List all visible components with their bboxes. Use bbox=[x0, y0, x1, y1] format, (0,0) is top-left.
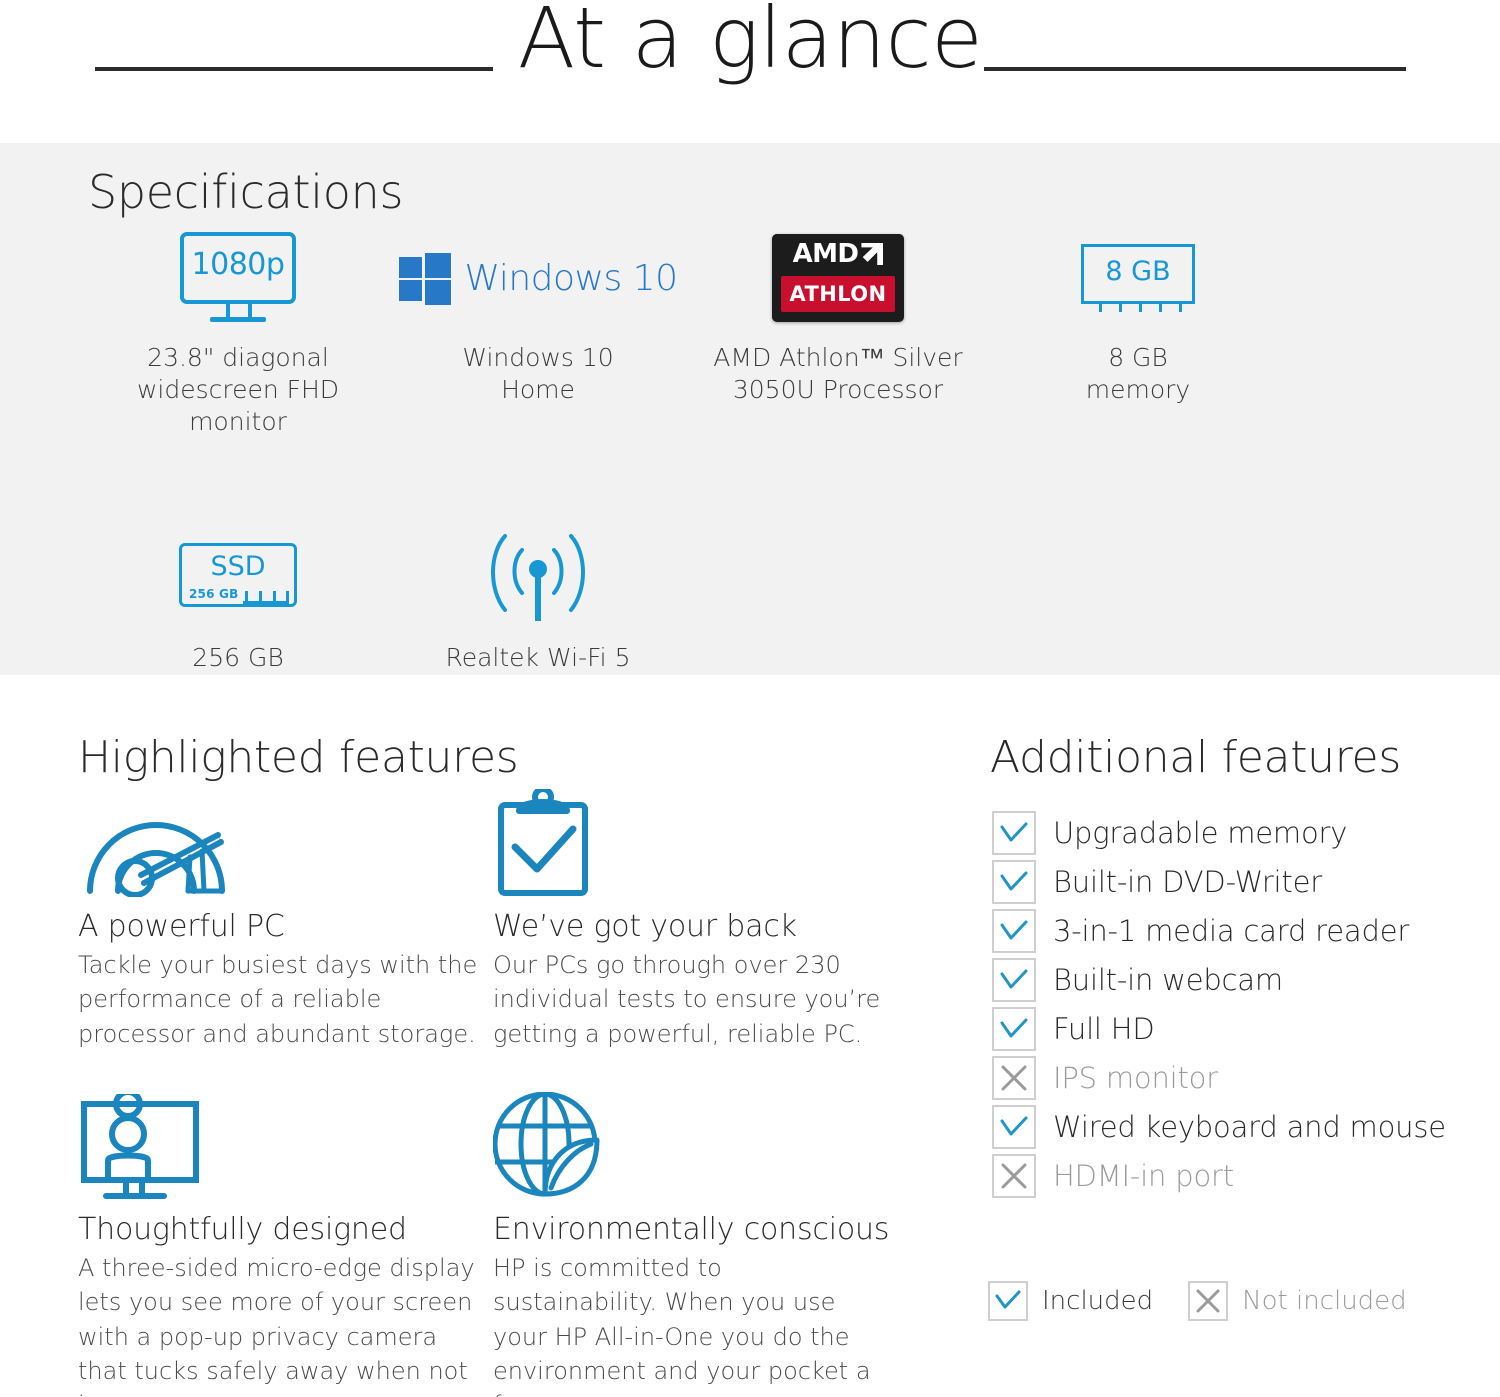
check-icon bbox=[999, 1017, 1029, 1041]
spec-icon-wrap: 1080p bbox=[176, 230, 300, 326]
monitor-neck-right bbox=[248, 304, 252, 317]
checkbox-checked[interactable] bbox=[992, 811, 1036, 855]
additional-feature-label: Built-in webcam bbox=[1053, 963, 1283, 997]
memory-tick bbox=[1099, 301, 1102, 312]
feature-heading: Thoughtfully designed bbox=[78, 1212, 493, 1247]
windows-pane-1 bbox=[399, 257, 422, 278]
feature-powerful-pc: A powerful PC Tackle your busiest days w… bbox=[78, 785, 493, 1051]
additional-feature-label: Upgradable memory bbox=[1053, 816, 1347, 850]
additional-feature-row[interactable]: HDMI-in port bbox=[992, 1151, 1446, 1200]
globe-leaf-icon bbox=[493, 1092, 609, 1200]
additional-feature-label: IPS monitor bbox=[1053, 1061, 1218, 1095]
windows-logo-icon: Windows 10 bbox=[399, 253, 678, 303]
monitor-1080p-icon: 1080p bbox=[176, 232, 300, 324]
at-a-glance-page: At a glance Specifications 1080p bbox=[0, 0, 1500, 1397]
spec-item-memory: 8 GB 8 GB memory bbox=[988, 230, 1288, 438]
feature-thoughtfully-designed: Thoughtfully designed A three-sided micr… bbox=[78, 1088, 493, 1397]
check-icon bbox=[999, 870, 1029, 894]
checkbox-checked[interactable] bbox=[992, 860, 1036, 904]
athlon-wordmark: ATHLON bbox=[790, 282, 887, 306]
ssd-label: SSD bbox=[179, 551, 297, 582]
feature-icon-wrap bbox=[78, 1088, 493, 1200]
spec-label-processor: AMD Athlon™ Silver 3050U Processor bbox=[713, 342, 962, 406]
header-rule-right bbox=[984, 67, 1406, 71]
amd-bottom-band: ATHLON bbox=[781, 276, 895, 312]
clipboard-check-icon bbox=[493, 789, 593, 897]
feature-heading: A powerful PC bbox=[78, 909, 493, 944]
spec-icon-wrap: 8 GB bbox=[1081, 230, 1195, 326]
checkbox-checked[interactable] bbox=[992, 909, 1036, 953]
amd-athlon-logo-icon: AMD ATHLON bbox=[772, 234, 904, 322]
ssd-tick bbox=[286, 591, 289, 601]
windows-pane-3 bbox=[399, 280, 422, 301]
additional-feature-label: Built-in DVD-Writer bbox=[1053, 865, 1322, 899]
additional-feature-row[interactable]: Full HD bbox=[992, 1004, 1446, 1053]
legend-checkbox-excluded bbox=[1188, 1281, 1228, 1321]
additional-features-title: Additional features bbox=[990, 732, 1401, 783]
additional-feature-row[interactable]: 3-in-1 media card reader bbox=[992, 906, 1446, 955]
check-icon bbox=[999, 968, 1029, 992]
checkbox-excluded[interactable] bbox=[992, 1154, 1036, 1198]
legend-included-label: Included bbox=[1042, 1286, 1153, 1316]
check-icon bbox=[999, 821, 1029, 845]
highlighted-features-grid: A powerful PC Tackle your busiest days w… bbox=[78, 785, 908, 1397]
feature-body: Tackle your busiest days with the perfor… bbox=[78, 948, 478, 1051]
page-header: At a glance bbox=[0, 0, 1500, 143]
feature-icon-wrap bbox=[493, 1088, 908, 1200]
close-icon bbox=[1000, 1162, 1028, 1190]
spec-icon-wrap: AMD ATHLON bbox=[772, 230, 904, 326]
additional-feature-row[interactable]: Upgradable memory bbox=[992, 808, 1446, 857]
check-icon bbox=[999, 1115, 1029, 1139]
specifications-grid: 1080p 23.8" diagonal widescreen FHD moni… bbox=[88, 230, 1428, 706]
spec-label-display: 23.8" diagonal widescreen FHD monitor bbox=[88, 342, 388, 438]
windows-pane-2 bbox=[425, 253, 451, 278]
checkbox-checked[interactable] bbox=[992, 958, 1036, 1002]
spec-item-processor: AMD ATHLON AMD Athlon™ Silver 3050U Proc… bbox=[688, 230, 988, 438]
feature-body: HP is committed to sustainability. When … bbox=[493, 1251, 893, 1397]
additional-features-list: Upgradable memory Built-in DVD-Writer 3-… bbox=[992, 808, 1446, 1200]
additional-feature-row[interactable]: Built-in DVD-Writer bbox=[992, 857, 1446, 906]
legend-checkbox-checked bbox=[988, 1281, 1028, 1321]
highlighted-features-title: Highlighted features bbox=[78, 732, 518, 783]
monitor-person-camera-icon bbox=[78, 1094, 202, 1200]
legend-not-included: Not included bbox=[1188, 1281, 1407, 1321]
memory-tick bbox=[1159, 301, 1162, 312]
checkbox-checked[interactable] bbox=[992, 1105, 1036, 1149]
memory-capacity-label: 8 GB bbox=[1081, 256, 1195, 287]
speedometer-icon bbox=[78, 793, 240, 897]
spec-item-display: 1080p 23.8" diagonal widescreen FHD moni… bbox=[88, 230, 388, 438]
additional-feature-row[interactable]: Wired keyboard and mouse bbox=[992, 1102, 1446, 1151]
additional-feature-label: 3-in-1 media card reader bbox=[1053, 914, 1409, 948]
feature-got-your-back: We’ve got your back Our PCs go through o… bbox=[493, 785, 908, 1051]
additional-feature-row[interactable]: IPS monitor bbox=[992, 1053, 1446, 1102]
specifications-panel: Specifications 1080p 23.8" diagonal bbox=[0, 143, 1500, 675]
specifications-title: Specifications bbox=[88, 165, 403, 219]
monitor-base bbox=[210, 317, 266, 322]
memory-tick bbox=[1119, 301, 1122, 312]
ssd-capacity-label: 256 GB bbox=[189, 587, 238, 601]
close-icon bbox=[1195, 1288, 1221, 1314]
feature-heading: We’ve got your back bbox=[493, 909, 908, 944]
wifi-signal-icon bbox=[483, 530, 593, 626]
highlighted-features-row: A powerful PC Tackle your busiest days w… bbox=[78, 785, 908, 1051]
ssd-drive-icon: SSD 256 GB bbox=[179, 543, 297, 613]
windows-wordmark: Windows 10 bbox=[465, 258, 678, 299]
ssd-rail bbox=[243, 601, 289, 604]
amd-wordmark: AMD bbox=[793, 241, 859, 267]
wifi-signal-svg bbox=[483, 530, 593, 626]
feature-body: A three-sided micro-edge display lets yo… bbox=[78, 1251, 478, 1397]
feature-icon-wrap bbox=[493, 785, 908, 897]
spec-icon-wrap bbox=[483, 530, 593, 626]
monitor-neck-left bbox=[226, 304, 230, 317]
memory-module-icon: 8 GB bbox=[1081, 244, 1195, 312]
spec-label-memory: 8 GB memory bbox=[1086, 342, 1190, 406]
additional-features-legend: Included Not included bbox=[988, 1281, 1407, 1321]
monitor-resolution-label: 1080p bbox=[180, 247, 296, 282]
highlighted-features-row: Thoughtfully designed A three-sided micr… bbox=[78, 1088, 908, 1397]
feature-environmentally-conscious: Environmentally conscious HP is committe… bbox=[493, 1088, 908, 1397]
amd-arrow-icon bbox=[861, 243, 883, 265]
check-icon bbox=[994, 1290, 1022, 1312]
spec-icon-wrap: Windows 10 bbox=[399, 230, 678, 326]
additional-feature-row[interactable]: Built-in webcam bbox=[992, 955, 1446, 1004]
feature-heading: Environmentally conscious bbox=[493, 1212, 908, 1247]
memory-tick bbox=[1139, 301, 1142, 312]
spec-item-os: Windows 10 Windows 10 Home bbox=[388, 230, 688, 438]
additional-feature-label: Full HD bbox=[1053, 1012, 1155, 1046]
checkbox-excluded[interactable] bbox=[992, 1056, 1036, 1100]
additional-feature-label: HDMI-in port bbox=[1053, 1159, 1234, 1193]
spec-icon-wrap: SSD 256 GB bbox=[179, 530, 297, 626]
additional-feature-label: Wired keyboard and mouse bbox=[1053, 1110, 1446, 1144]
ssd-tick bbox=[259, 591, 262, 601]
ssd-tick bbox=[245, 591, 248, 601]
ssd-tick bbox=[273, 591, 276, 601]
feature-icon-wrap bbox=[78, 785, 493, 897]
memory-tick bbox=[1179, 301, 1182, 312]
checkbox-checked[interactable] bbox=[992, 1007, 1036, 1051]
specifications-row: 1080p 23.8" diagonal widescreen FHD moni… bbox=[88, 230, 1428, 438]
check-icon bbox=[999, 919, 1029, 943]
features-section: Highlighted features Additional features bbox=[0, 675, 1500, 1397]
close-icon bbox=[1000, 1064, 1028, 1092]
amd-top-band: AMD bbox=[772, 234, 904, 274]
windows-pane-4 bbox=[425, 280, 451, 305]
legend-not-included-label: Not included bbox=[1242, 1286, 1407, 1316]
windows-flag-shape bbox=[399, 253, 451, 303]
spec-label-os: Windows 10 Home bbox=[462, 342, 613, 406]
feature-body: Our PCs go through over 230 individual t… bbox=[493, 948, 893, 1051]
legend-included: Included bbox=[988, 1281, 1153, 1321]
